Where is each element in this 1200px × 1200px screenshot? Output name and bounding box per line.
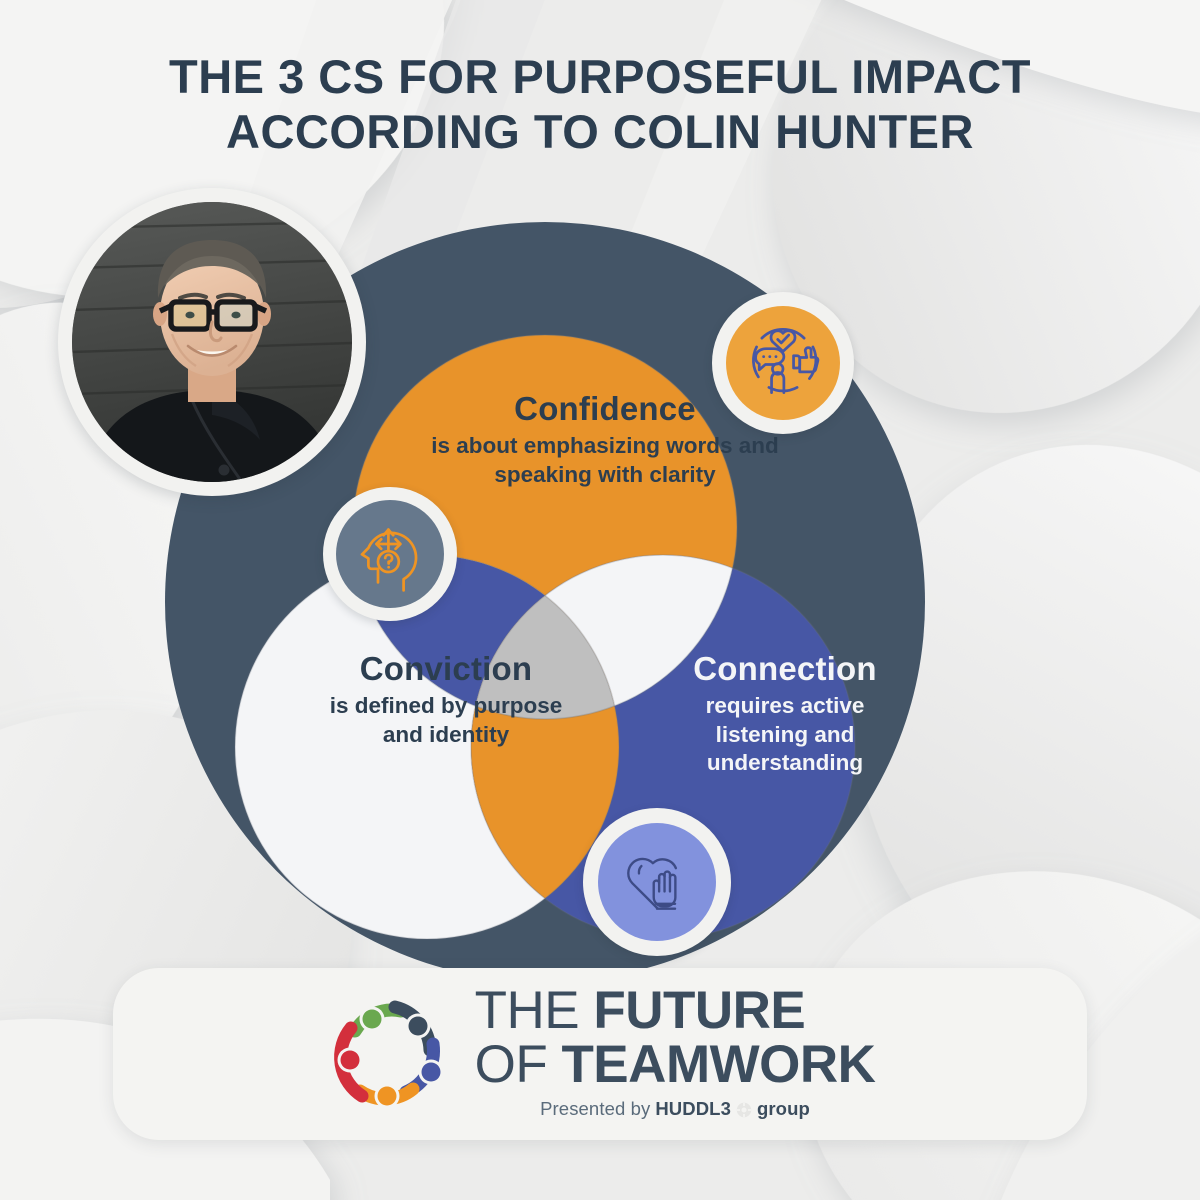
footer-line-2-bold: TEAMWORK (561, 1035, 875, 1094)
badge-confidence-inner (726, 306, 840, 420)
footer-wordmark: THE FUTURE OF TEAMWORK Presented by HUDD… (475, 984, 876, 1119)
presented-prefix: Presented by (540, 1098, 650, 1120)
footer-line-1-thin: THE (475, 981, 594, 1040)
badge-conviction (323, 487, 457, 621)
presented-brand: HUDDL3 (655, 1098, 731, 1120)
footer-panel: THE FUTURE OF TEAMWORK Presented by HUDD… (113, 968, 1087, 1140)
page-title: THE 3 CS FOR PURPOSEFUL IMPACT ACCORDING… (0, 50, 1200, 160)
badge-connection (583, 808, 731, 956)
heart-hand-icon (616, 839, 698, 926)
badge-confidence (712, 292, 854, 434)
avatar-photo (72, 202, 352, 482)
huddl3-dot-icon (736, 1101, 752, 1117)
avatar (58, 188, 366, 496)
presented-suffix: group (757, 1098, 810, 1120)
speech-heart-thumbsup-icon (739, 317, 827, 410)
footer-line-1-bold: FUTURE (593, 981, 805, 1040)
footer-line-2-thin: OF (475, 1035, 562, 1094)
badge-connection-inner (598, 823, 716, 941)
title-line-2: ACCORDING TO COLIN HUNTER (0, 105, 1200, 160)
presented-by: Presented by HUDDL3 group (475, 1098, 876, 1120)
head-arrows-question-icon (350, 512, 430, 597)
footer-content: THE FUTURE OF TEAMWORK Presented by HUDD… (325, 984, 876, 1119)
badge-conviction-inner (336, 500, 444, 608)
footer-line-1: THE FUTURE (475, 984, 876, 1038)
title-line-1: THE 3 CS FOR PURPOSEFUL IMPACT (0, 50, 1200, 105)
footer-line-2: OF TEAMWORK (475, 1038, 876, 1092)
teamwork-circle-logo-icon (325, 988, 453, 1116)
